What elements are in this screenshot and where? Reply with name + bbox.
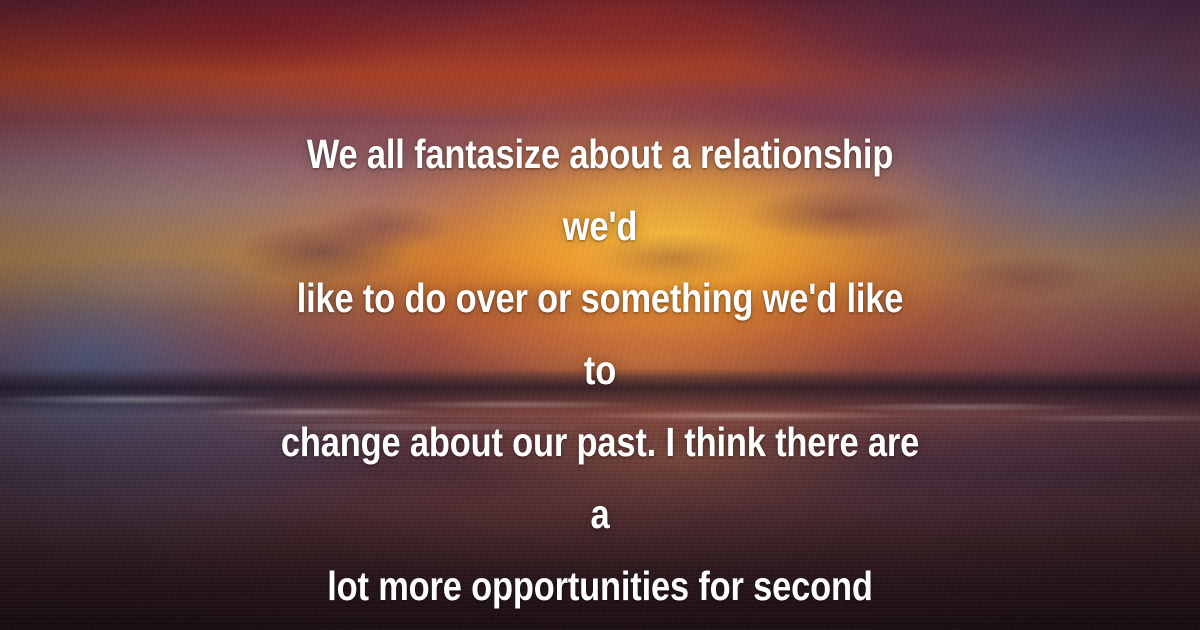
quote-card: We all fantasize about a relationship we… [0,0,1200,630]
quote-content: We all fantasize about a relationship we… [0,0,1200,630]
quote-text: We all fantasize about a relationship we… [281,118,919,630]
